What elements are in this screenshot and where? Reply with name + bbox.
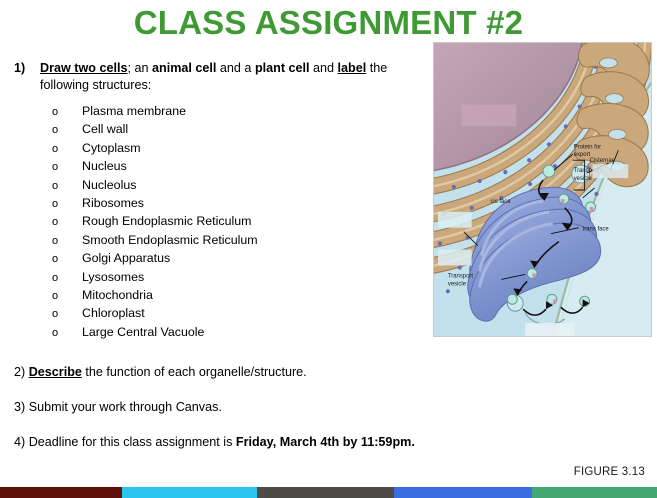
figure-caption: FIGURE 3.13 bbox=[455, 466, 645, 478]
cell-diagram-figure: Protein for export Transport vesicle cis… bbox=[433, 42, 652, 337]
list-item: o Mitochondria bbox=[14, 287, 426, 305]
bullet-marker-icon: o bbox=[14, 288, 82, 305]
list-item: o Lysosomes bbox=[14, 269, 426, 287]
list-item-label: Golgi Apparatus bbox=[82, 250, 426, 267]
task-1-text: Draw two cells; an animal cell and a pla… bbox=[40, 60, 426, 94]
bar-segment-dark-red bbox=[0, 487, 122, 498]
task-1-sep-2: and a bbox=[216, 61, 255, 75]
label-cisternae: Cisternae bbox=[590, 158, 616, 164]
bar-segment-blue bbox=[394, 487, 532, 498]
bullet-marker-icon: o bbox=[14, 122, 82, 139]
task-4-lead: 4) Deadline for this class assignment is bbox=[14, 435, 236, 449]
task-2-tail: the function of each organelle/structure… bbox=[82, 365, 307, 379]
task-2-number: 2) bbox=[14, 365, 29, 379]
label-transport-vesicle-top-line2: vesicle bbox=[574, 176, 593, 182]
bar-segment-green bbox=[532, 487, 657, 498]
list-item: o Large Central Vacuole bbox=[14, 324, 426, 342]
task-1-draw-emphasis: Draw two cells bbox=[40, 61, 128, 75]
task-1-plant-cell: plant cell bbox=[255, 61, 310, 75]
list-item: o Cell wall bbox=[14, 121, 426, 139]
list-item-label: Nucleus bbox=[82, 158, 426, 175]
task-4-deadline: Friday, March 4th by 11:59pm. bbox=[236, 435, 415, 449]
task-1-sep-1: ; an bbox=[128, 61, 153, 75]
bullet-marker-icon: o bbox=[14, 251, 82, 268]
list-item-label: Ribosomes bbox=[82, 195, 426, 212]
bullet-marker-icon: o bbox=[14, 104, 82, 121]
task-item-4: 4) Deadline for this class assignment is… bbox=[14, 434, 426, 451]
page-title: CLASS ASSIGNMENT #2 bbox=[0, 4, 657, 42]
list-item: o Nucleus bbox=[14, 158, 426, 176]
list-item-label: Mitochondria bbox=[82, 287, 426, 304]
label-trans-face: trans face bbox=[583, 227, 610, 233]
list-item: o Golgi Apparatus bbox=[14, 250, 426, 268]
list-item: o Smooth Endoplasmic Reticulum bbox=[14, 232, 426, 250]
list-item: o Cytoplasm bbox=[14, 140, 426, 158]
label-protein-for-export-line2: export bbox=[574, 152, 591, 158]
list-item-label: Rough Endoplasmic Reticulum bbox=[82, 213, 426, 230]
cell-diagram-illustration: Protein for export Transport vesicle cis… bbox=[434, 43, 651, 336]
task-1-sep-3: and bbox=[310, 61, 338, 75]
task-1-number: 1) bbox=[14, 60, 40, 77]
list-item-label: Large Central Vacuole bbox=[82, 324, 426, 341]
task-1-label-emphasis: label bbox=[338, 61, 367, 75]
label-transport-vesicle-bottom-line1: Transport bbox=[448, 273, 474, 279]
label-cis-face: cis face bbox=[490, 199, 511, 205]
list-item-label: Cytoplasm bbox=[82, 140, 426, 157]
list-item-label: Plasma membrane bbox=[82, 103, 426, 120]
list-item: o Rough Endoplasmic Reticulum bbox=[14, 213, 426, 231]
bullet-marker-icon: o bbox=[14, 196, 82, 213]
bullet-marker-icon: o bbox=[14, 214, 82, 231]
list-item-label: Smooth Endoplasmic Reticulum bbox=[82, 232, 426, 249]
task-item-2: 2) Describe the function of each organel… bbox=[14, 364, 426, 381]
bottom-accent-bar bbox=[0, 487, 657, 498]
bar-segment-cyan bbox=[122, 487, 257, 498]
label-protein-for-export-line1: Protein for bbox=[574, 144, 601, 150]
bullet-marker-icon: o bbox=[14, 178, 82, 195]
bar-segment-gray bbox=[257, 487, 394, 498]
task-1-animal-cell: animal cell bbox=[152, 61, 216, 75]
task-2-describe-emphasis: Describe bbox=[29, 365, 82, 379]
list-item-label: Cell wall bbox=[82, 121, 426, 138]
task-item-3: 3) Submit your work through Canvas. bbox=[14, 399, 426, 416]
bullet-marker-icon: o bbox=[14, 159, 82, 176]
list-item: o Plasma membrane bbox=[14, 103, 426, 121]
organelle-list: o Plasma membrane o Cell wall o Cytoplas… bbox=[14, 103, 426, 342]
list-item-label: Chloroplast bbox=[82, 305, 426, 322]
assignment-body: 1) Draw two cells; an animal cell and a … bbox=[14, 60, 426, 451]
label-transport-vesicle-bottom-line2: vesicle bbox=[448, 281, 467, 287]
list-item-label: Nucleolus bbox=[82, 177, 426, 194]
list-item: o Ribosomes bbox=[14, 195, 426, 213]
bullet-marker-icon: o bbox=[14, 270, 82, 287]
bullet-marker-icon: o bbox=[14, 141, 82, 158]
list-item: o Chloroplast bbox=[14, 305, 426, 323]
bullet-marker-icon: o bbox=[14, 233, 82, 250]
list-item-label: Lysosomes bbox=[82, 269, 426, 286]
bullet-marker-icon: o bbox=[14, 325, 82, 342]
list-item: o Nucleolus bbox=[14, 177, 426, 195]
bullet-marker-icon: o bbox=[14, 306, 82, 323]
task-item-1: 1) Draw two cells; an animal cell and a … bbox=[14, 60, 426, 94]
